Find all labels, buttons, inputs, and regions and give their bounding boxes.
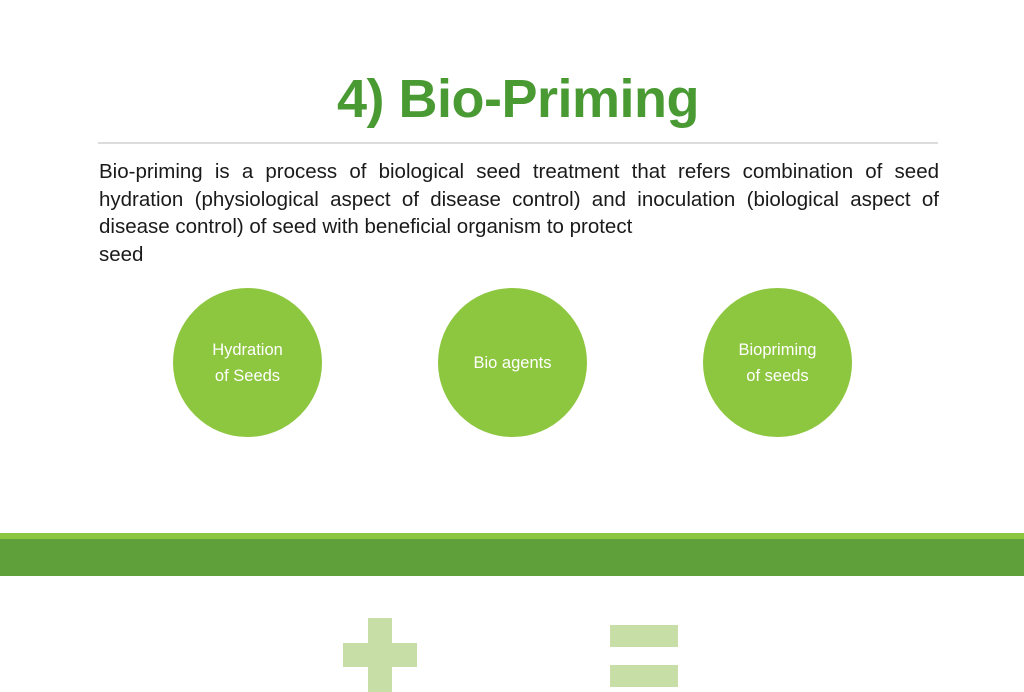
plus-icon bbox=[343, 618, 417, 692]
diagram-circle-label: Bio agents bbox=[474, 350, 552, 376]
body-paragraph-last-line: seed bbox=[99, 241, 939, 269]
diagram-circle-label: Biopriming of seeds bbox=[739, 337, 817, 389]
diagram-circle-biopriming-of-seeds: Biopriming of seeds bbox=[703, 288, 852, 437]
diagram-circle-bio-agents: Bio agents bbox=[438, 288, 587, 437]
diagram-circle-hydration-of-seeds: Hydration of Seeds bbox=[173, 288, 322, 437]
equals-icon-bottom-bar bbox=[610, 665, 678, 687]
equals-icon-top-bar bbox=[610, 625, 678, 647]
equals-icon bbox=[610, 625, 678, 687]
page-title: 4) Bio-Priming bbox=[98, 68, 938, 130]
plus-icon-vertical-bar bbox=[368, 618, 392, 692]
footer-band bbox=[0, 539, 1024, 576]
diagram-circle-label: Hydration of Seeds bbox=[212, 337, 283, 389]
title-divider bbox=[98, 142, 938, 144]
equation-diagram: Hydration of Seeds Bio agents Biopriming… bbox=[0, 288, 1024, 438]
slide-canvas: 4) Bio-Priming Bio-priming is a process … bbox=[0, 0, 1024, 576]
body-paragraph-main: Bio-priming is a process of biological s… bbox=[99, 160, 939, 238]
body-paragraph: Bio-priming is a process of biological s… bbox=[99, 158, 939, 268]
